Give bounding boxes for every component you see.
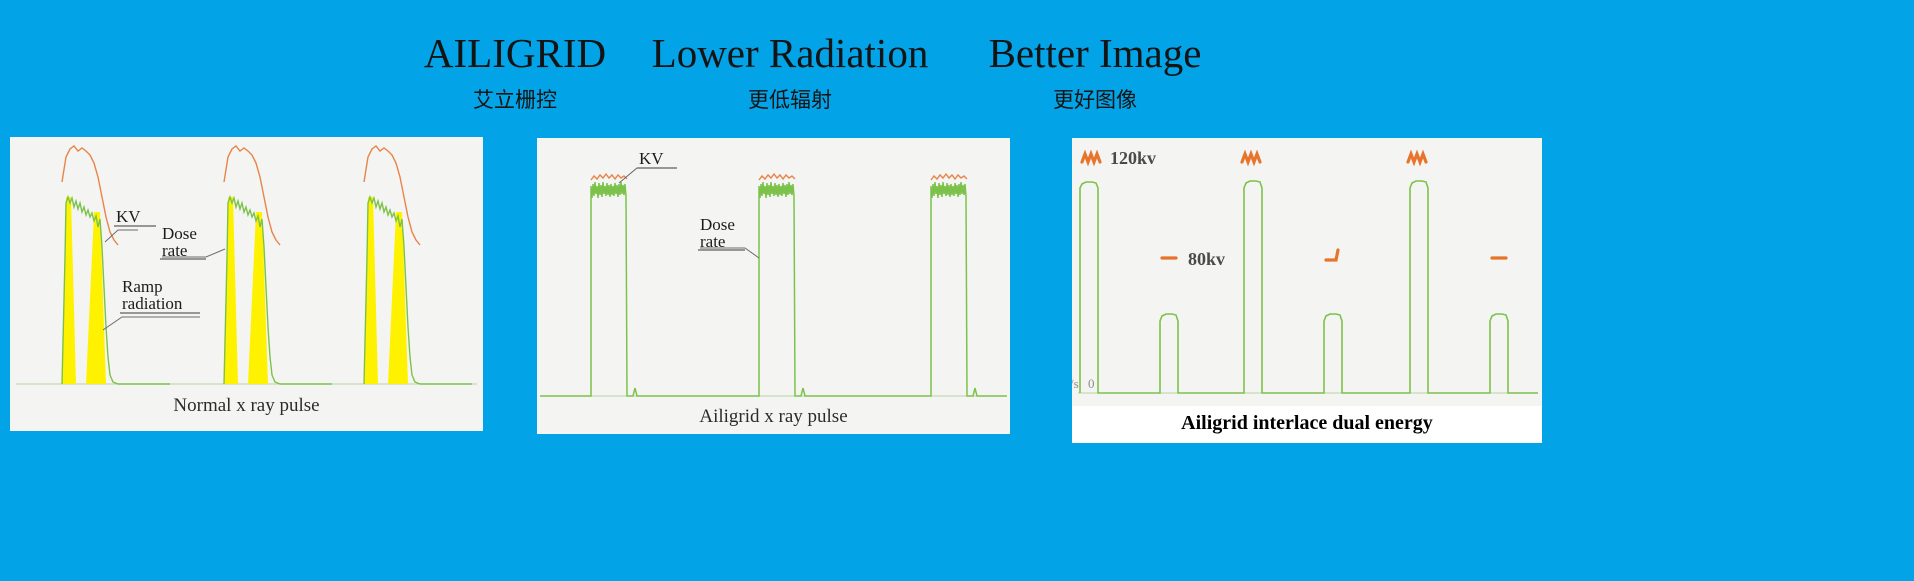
dose-rate-curve [364,197,472,384]
annotation-dose-rate-label-2: rate [700,232,725,251]
ramp-radiation-fill [86,212,106,384]
legend-kv-high: 120kv [1082,148,1156,168]
panel-ailigrid-dual-energy: 120kv 80kv /s 0 Ailigrid interlace dual … [1072,138,1542,437]
dose-rate-curve [857,182,1007,396]
header-banner: AILIGRID 艾立栅控 Lower Radiation 更低辐射 Bette… [0,0,1914,160]
pulse-group-2 [224,146,332,384]
panel-caption-ailigrid: Ailigrid x ray pulse [537,406,1010,428]
panel-caption-normal: Normal x ray pulse [10,395,483,417]
panel-normal-xray-pulse: KV Dose rate Ramp radiation Normal x ray… [10,137,483,431]
header-title-cn-1: 更低辐射 [640,86,940,114]
annotation-dose-rate: Dose rate [698,215,759,258]
panel-ailigrid-xray-pulse: KV Dose rate Ailigrid x ray pulse [537,138,1010,434]
leader-line [103,317,200,330]
header-title-en-1: Lower Radiation [640,30,940,76]
header-title-en-2: Better Image [945,30,1245,76]
chart-ailigrid-xray-pulse: KV Dose rate [537,138,1010,403]
kv-curve [591,174,627,180]
kv-curve [931,174,967,180]
header-column-ailigrid: AILIGRID 艾立栅控 [380,30,650,114]
dose-rate-curve [224,197,332,384]
kv-high-marker-icon [1408,154,1426,162]
kv-high-marker-icon [1082,154,1100,162]
axis-label-rate-unit: /s [1072,376,1079,391]
dose-rate-curve [1080,181,1538,393]
pulse-group-3 [857,174,1007,396]
panel-caption-dual-energy: Ailigrid interlace dual energy [1072,406,1542,443]
pulse-group-1 [540,174,697,396]
ramp-radiation-fill [388,212,408,384]
dose-rate-curve [540,182,697,396]
header-title-cn-2: 更好图像 [945,86,1245,114]
chart-normal-xray-pulse: KV Dose rate Ramp radiation [10,137,483,392]
header-title-cn-0: 艾立栅控 [380,86,650,114]
header-column-lower-radiation: Lower Radiation 更低辐射 [640,30,940,114]
kv-low-marker-icon [1326,250,1338,260]
annotation-dose-rate-label-2: rate [162,241,187,260]
annotation-kv-label: KV [116,207,141,226]
annotation-ramp-label-2: radiation [122,294,183,313]
header-column-better-image: Better Image 更好图像 [945,30,1245,114]
annotation-dose-rate: Dose rate [160,224,225,260]
legend-kv-low-label: 80kv [1188,249,1225,269]
chart-ailigrid-dual-energy: 120kv 80kv /s 0 [1072,138,1542,403]
kv-high-marker-icon [1242,154,1260,162]
header-title-en-0: AILIGRID [380,30,650,76]
annotation-kv: KV [619,149,677,183]
annotation-ramp-radiation: Ramp radiation [103,277,200,330]
pulse-group-2 [697,174,857,396]
pulse-group-3 [364,146,472,384]
legend-kv-low: 80kv [1162,249,1225,269]
kv-curve [759,174,795,180]
pulse-group-1 [62,146,170,384]
axis-label-zero: 0 [1088,376,1095,391]
ramp-radiation-fill [248,212,268,384]
legend-kv-high-label: 120kv [1110,148,1156,168]
annotation-kv-label: KV [639,149,664,168]
